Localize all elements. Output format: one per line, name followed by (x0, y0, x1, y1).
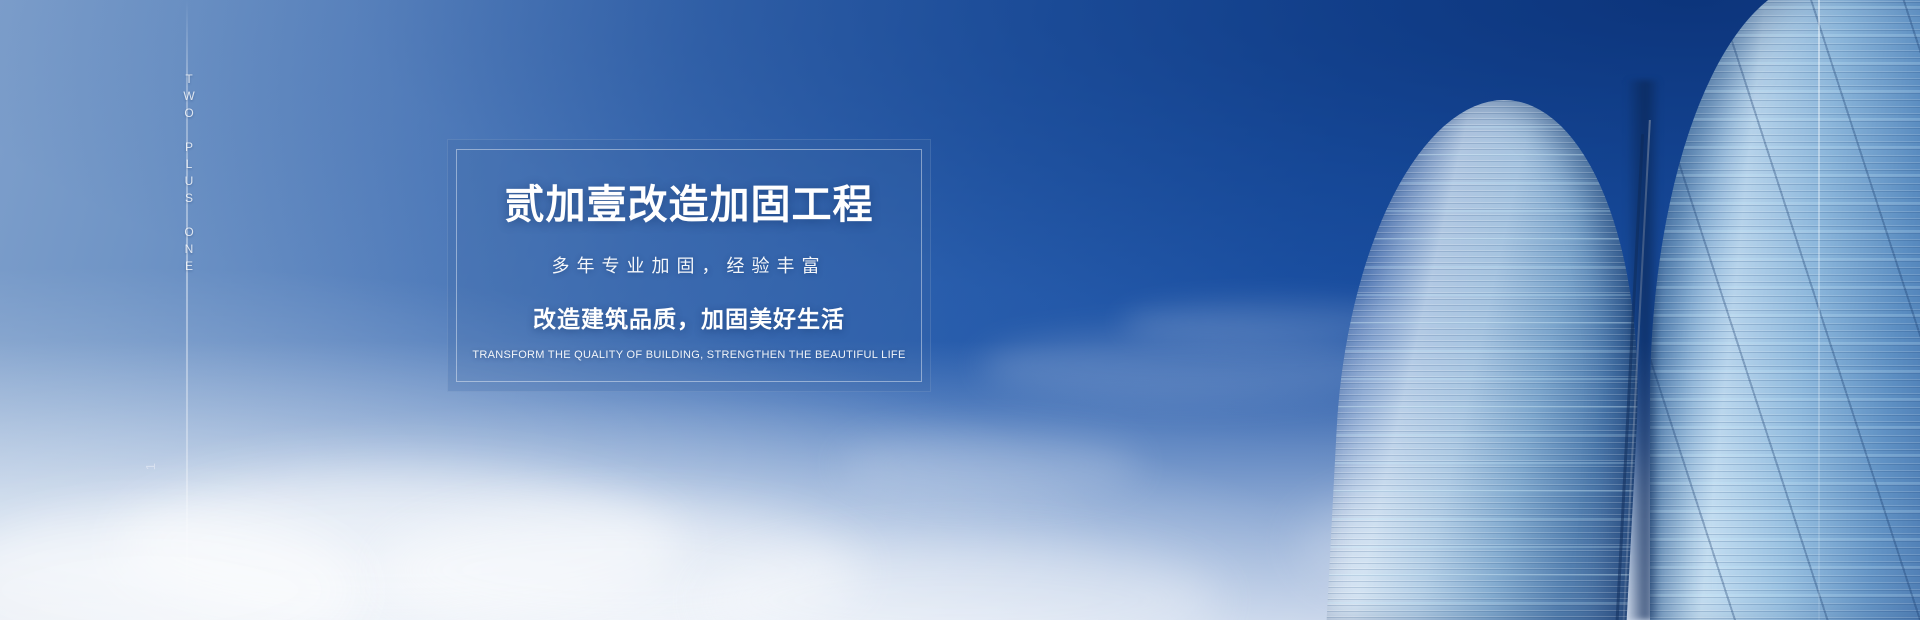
slide-index-marker: 1 (143, 462, 158, 470)
brand-vertical-text: TWO PLUS ONE (178, 72, 200, 276)
slogan-english: TRANSFORM THE QUALITY OF BUILDING, STREN… (472, 349, 905, 361)
tower-diagonal-ribs (1650, 0, 1920, 620)
page-title: 贰加壹改造加固工程 (505, 183, 874, 228)
hero-text-panel: 贰加壹改造加固工程 多年专业加固，经验丰富 改造建筑品质，加固美好生活 TRAN… (447, 139, 931, 392)
tower-left-curved (1326, 100, 1654, 620)
tower-edge-highlight (1818, 0, 1820, 620)
slogan-chinese: 改造建筑品质，加固美好生活 (533, 300, 845, 334)
hero-banner: TWO PLUS ONE 1 贰加壹改造加固工程 多年专业加固，经验丰富 改造建… (0, 0, 1920, 620)
tower-shadow-gap (1626, 80, 1660, 620)
tower-lit-bands (1326, 100, 1654, 620)
subtitle: 多年专业加固，经验丰富 (552, 252, 827, 278)
panel-content: 贰加壹改造加固工程 多年专业加固，经验丰富 改造建筑品质，加固美好生活 TRAN… (447, 139, 931, 392)
tower-right-tall (1650, 0, 1920, 620)
skyscraper-photo-region (1040, 0, 1920, 620)
